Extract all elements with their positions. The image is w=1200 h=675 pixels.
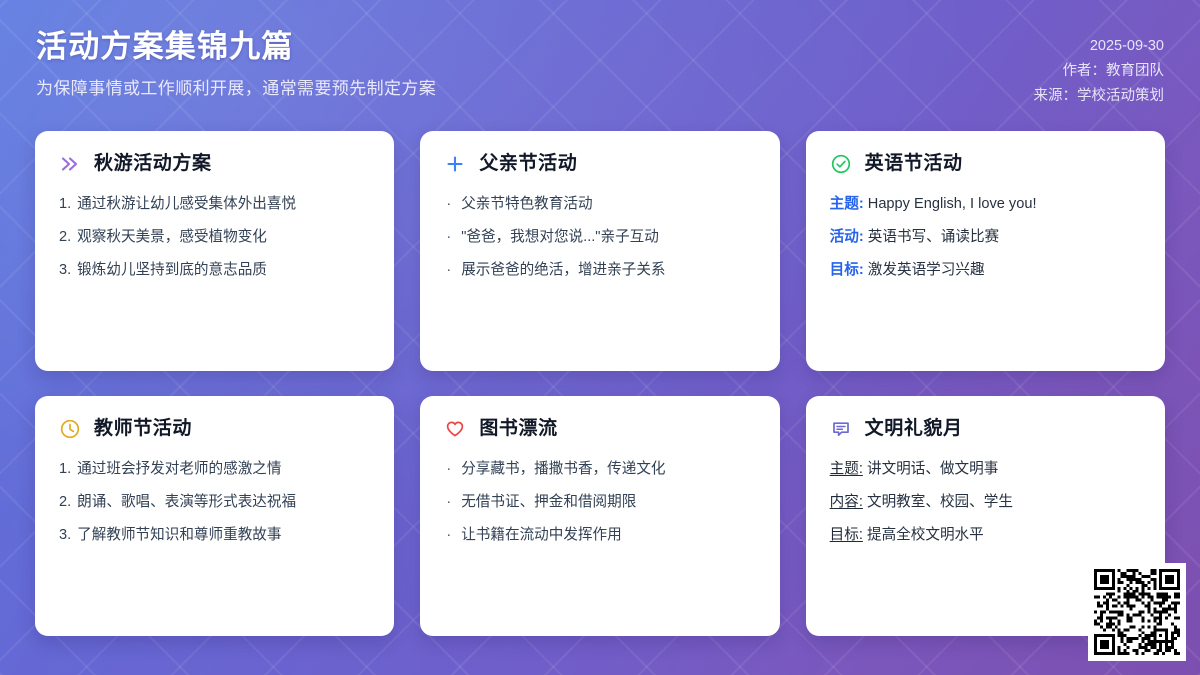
card-teachers-day[interactable]: 教师节活动 1. 通过班会抒发对老师的感激之情 2. 朗诵、歌唱、表演等形式表达… xyxy=(35,396,394,636)
card-fathers-day[interactable]: 父亲节活动 · 父亲节特色教育活动 · "爸爸，我想对您说..."亲子互动 · … xyxy=(420,131,779,371)
card-english-festival[interactable]: 英语节活动 主题: Happy English, I love you! 活动:… xyxy=(806,131,1165,371)
list-text: 通过班会抒发对老师的感激之情 xyxy=(77,459,281,480)
card-grid: 秋游活动方案 1. 通过秋游让幼儿感受集体外出喜悦 2. 观察秋天美景，感受植物… xyxy=(35,131,1165,636)
card-title: 父亲节活动 xyxy=(479,153,577,176)
list-text: 父亲节特色教育活动 xyxy=(461,194,592,215)
card-book-drifting[interactable]: 图书漂流 · 分享藏书，播撒书香，传递文化 · 无借书证、押金和借阅期限 · 让… xyxy=(420,396,779,636)
card-title: 图书漂流 xyxy=(479,418,557,441)
list-item: 目标: 激发英语学习兴趣 xyxy=(830,260,1141,281)
bullet-list: · 分享藏书，播撒书香，传递文化 · 无借书证、押金和借阅期限 · 让书籍在流动… xyxy=(444,459,755,546)
page-subtitle: 为保障事情或工作顺利开展，通常需要预先制定方案 xyxy=(36,78,436,100)
kv-value: 提高全校文明水平 xyxy=(867,527,984,543)
card-title: 秋游活动方案 xyxy=(94,153,212,176)
check-circle-icon xyxy=(830,153,852,175)
qr-code[interactable] xyxy=(1088,563,1186,661)
clock-icon xyxy=(59,418,81,440)
card-title: 文明礼貌月 xyxy=(865,418,963,441)
card-body: · 父亲节特色教育活动 · "爸爸，我想对您说..."亲子互动 · 展示爸爸的绝… xyxy=(444,194,755,281)
kv-key: 主题: xyxy=(830,196,864,212)
card-title: 英语节活动 xyxy=(865,153,963,176)
qr-code-image xyxy=(1094,569,1180,655)
poster-canvas: 活动方案集锦九篇 为保障事情或工作顺利开展，通常需要预先制定方案 2025-09… xyxy=(0,0,1200,675)
card-body: 主题: Happy English, I love you! 活动: 英语书写、… xyxy=(830,194,1141,281)
header-left-group: 活动方案集锦九篇 为保障事情或工作顺利开展，通常需要预先制定方案 xyxy=(36,26,436,100)
publish-date: 2025-09-30 xyxy=(1034,34,1165,59)
list-marker: · xyxy=(446,525,451,546)
heart-icon xyxy=(444,418,466,440)
list-item: 3. 了解教师节知识和尊师重教故事 xyxy=(59,525,370,546)
list-item: 1. 通过班会抒发对老师的感激之情 xyxy=(59,459,370,480)
list-marker: 2. xyxy=(59,227,71,248)
list-text: 分享藏书，播撒书香，传递文化 xyxy=(461,459,665,480)
list-marker: 2. xyxy=(59,492,71,513)
card-body: · 分享藏书，播撒书香，传递文化 · 无借书证、押金和借阅期限 · 让书籍在流动… xyxy=(444,459,755,546)
header-meta-group: 2025-09-30 作者：教育团队 来源：学校活动策划 xyxy=(1034,26,1165,109)
list-item: 1. 通过秋游让幼儿感受集体外出喜悦 xyxy=(59,194,370,215)
plus-icon xyxy=(444,153,466,175)
list-text: 无借书证、押金和借阅期限 xyxy=(461,492,636,513)
card-body: 1. 通过班会抒发对老师的感激之情 2. 朗诵、歌唱、表演等形式表达祝福 3. … xyxy=(59,459,370,546)
list-text: 通过秋游让幼儿感受集体外出喜悦 xyxy=(77,194,296,215)
list-item: · 无借书证、押金和借阅期限 xyxy=(444,492,755,513)
kv-value: Happy English, I love you! xyxy=(868,196,1037,212)
list-item: 2. 朗诵、歌唱、表演等形式表达祝福 xyxy=(59,492,370,513)
list-item: 目标: 提高全校文明水平 xyxy=(830,525,1141,546)
keyvalue-list: 主题: 讲文明话、做文明事 内容: 文明教室、校园、学生 目标: 提高全校文明水… xyxy=(830,459,1141,546)
kv-value: 讲文明话、做文明事 xyxy=(867,461,998,477)
list-text: "爸爸，我想对您说..."亲子互动 xyxy=(461,227,659,248)
list-item: 内容: 文明教室、校园、学生 xyxy=(830,492,1141,513)
list-text: 朗诵、歌唱、表演等形式表达祝福 xyxy=(77,492,296,513)
list-text: 让书籍在流动中发挥作用 xyxy=(461,525,622,546)
numbered-list: 1. 通过班会抒发对老师的感激之情 2. 朗诵、歌唱、表演等形式表达祝福 3. … xyxy=(59,459,370,546)
kv-key: 目标: xyxy=(830,262,864,278)
list-text: 观察秋天美景，感受植物变化 xyxy=(77,227,267,248)
kv-key: 内容: xyxy=(830,494,863,510)
list-text: 了解教师节知识和尊师重教故事 xyxy=(77,525,281,546)
card-body: 主题: 讲文明话、做文明事 内容: 文明教室、校园、学生 目标: 提高全校文明水… xyxy=(830,459,1141,546)
list-marker: 3. xyxy=(59,260,71,281)
kv-value: 文明教室、校园、学生 xyxy=(867,494,1013,510)
source-line: 来源：学校活动策划 xyxy=(1034,84,1165,109)
list-item: 2. 观察秋天美景，感受植物变化 xyxy=(59,227,370,248)
kv-key: 目标: xyxy=(830,527,863,543)
list-marker: · xyxy=(446,194,451,215)
keyvalue-list: 主题: Happy English, I love you! 活动: 英语书写、… xyxy=(830,194,1141,281)
list-item: · 展示爸爸的绝活，增进亲子关系 xyxy=(444,260,755,281)
card-header: 文明礼貌月 xyxy=(830,418,1141,441)
list-marker: · xyxy=(446,260,451,281)
poster-header: 活动方案集锦九篇 为保障事情或工作顺利开展，通常需要预先制定方案 2025-09… xyxy=(0,0,1200,122)
page-title: 活动方案集锦九篇 xyxy=(36,28,436,67)
list-item: 活动: 英语书写、诵读比赛 xyxy=(830,227,1141,248)
kv-key: 活动: xyxy=(830,229,864,245)
speech-bubble-icon xyxy=(830,418,852,440)
list-item: 主题: Happy English, I love you! xyxy=(830,194,1141,215)
card-title: 教师节活动 xyxy=(94,418,192,441)
card-header: 教师节活动 xyxy=(59,418,370,441)
list-marker: · xyxy=(446,492,451,513)
list-item: 主题: 讲文明话、做文明事 xyxy=(830,459,1141,480)
card-autumn-outing[interactable]: 秋游活动方案 1. 通过秋游让幼儿感受集体外出喜悦 2. 观察秋天美景，感受植物… xyxy=(35,131,394,371)
bullet-list: · 父亲节特色教育活动 · "爸爸，我想对您说..."亲子互动 · 展示爸爸的绝… xyxy=(444,194,755,281)
card-header: 英语节活动 xyxy=(830,153,1141,176)
list-marker: 3. xyxy=(59,525,71,546)
kv-key: 主题: xyxy=(830,461,863,477)
list-marker: · xyxy=(446,459,451,480)
card-body: 1. 通过秋游让幼儿感受集体外出喜悦 2. 观察秋天美景，感受植物变化 3. 锻… xyxy=(59,194,370,281)
card-header: 秋游活动方案 xyxy=(59,153,370,176)
double-chevron-icon xyxy=(59,153,81,175)
numbered-list: 1. 通过秋游让幼儿感受集体外出喜悦 2. 观察秋天美景，感受植物变化 3. 锻… xyxy=(59,194,370,281)
list-text: 展示爸爸的绝活，增进亲子关系 xyxy=(461,260,665,281)
card-header: 父亲节活动 xyxy=(444,153,755,176)
list-item: · 分享藏书，播撒书香，传递文化 xyxy=(444,459,755,480)
list-item: · "爸爸，我想对您说..."亲子互动 xyxy=(444,227,755,248)
list-marker: · xyxy=(446,227,451,248)
list-marker: 1. xyxy=(59,194,71,215)
list-text: 锻炼幼儿坚持到底的意志品质 xyxy=(77,260,267,281)
list-marker: 1. xyxy=(59,459,71,480)
list-item: · 父亲节特色教育活动 xyxy=(444,194,755,215)
list-item: 3. 锻炼幼儿坚持到底的意志品质 xyxy=(59,260,370,281)
author-line: 作者：教育团队 xyxy=(1034,59,1165,84)
kv-value: 英语书写、诵读比赛 xyxy=(868,229,999,245)
list-item: · 让书籍在流动中发挥作用 xyxy=(444,525,755,546)
kv-value: 激发英语学习兴趣 xyxy=(868,262,985,278)
card-header: 图书漂流 xyxy=(444,418,755,441)
